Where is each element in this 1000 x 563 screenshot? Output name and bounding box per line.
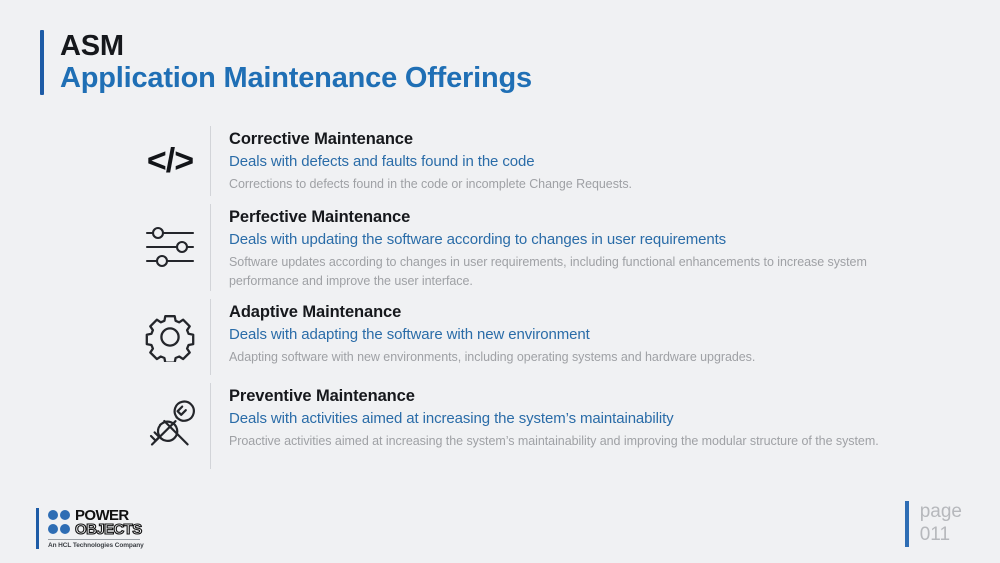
offering-title: Adaptive Maintenance (229, 301, 930, 323)
page-number-group: page 011 (905, 501, 962, 547)
row-divider (210, 204, 211, 291)
row-divider (210, 299, 211, 375)
offering-title: Corrective Maintenance (229, 128, 930, 150)
list-item: Perfective Maintenance Deals with updati… (130, 204, 930, 291)
row-divider (210, 383, 211, 469)
logo-divider (48, 539, 140, 540)
page-subtitle: Application Maintenance Offerings (60, 62, 532, 94)
row-divider (210, 126, 211, 196)
header-text-group: ASM Application Maintenance Offerings (60, 30, 532, 95)
page-number-text: page 011 (920, 501, 962, 547)
offering-subtitle: Deals with activities aimed at increasin… (229, 408, 930, 430)
tools-icon (130, 383, 210, 469)
offering-subtitle: Deals with updating the software accordi… (229, 229, 930, 251)
logo-line-bottom: OBJECTS (48, 522, 144, 536)
offering-body: Adaptive Maintenance Deals with adapting… (229, 299, 930, 367)
list-item: </> Corrective Maintenance Deals with de… (130, 126, 930, 196)
logo-dot-icon (60, 524, 70, 534)
offering-body: Corrective Maintenance Deals with defect… (229, 126, 930, 194)
tools-icon-svg (144, 400, 196, 452)
logo-tagline: An HCL Technologies Company (48, 542, 144, 549)
list-item: Preventive Maintenance Deals with activi… (130, 383, 930, 469)
logo-word-objects: OBJECTS (75, 521, 142, 538)
logo-dot-icon (48, 524, 58, 534)
logo-dot-icon (48, 510, 58, 520)
header-accent-bar (40, 30, 44, 95)
offering-title: Preventive Maintenance (229, 385, 930, 407)
offering-description: Software updates according to changes in… (229, 253, 930, 291)
page-number: 011 (920, 524, 962, 547)
logo-text-group: POWER OBJECTS An HCL Technologies Compan… (48, 508, 144, 549)
offering-description: Adapting software with new environments,… (229, 348, 930, 367)
sliders-icon (130, 204, 210, 290)
offering-title: Perfective Maintenance (229, 206, 930, 228)
page-label: page (920, 501, 962, 524)
offering-body: Preventive Maintenance Deals with activi… (229, 383, 930, 451)
code-icon-glyph: </> (147, 142, 193, 181)
offering-subtitle: Deals with adapting the software with ne… (229, 324, 930, 346)
page-accent-bar (905, 501, 909, 547)
logo-dot-icon (60, 510, 70, 520)
offerings-list: </> Corrective Maintenance Deals with de… (130, 126, 930, 477)
code-icon: </> (130, 126, 210, 196)
powerobjects-logo: POWER OBJECTS An HCL Technologies Compan… (36, 508, 144, 549)
gear-icon (130, 299, 210, 375)
logo-accent-bar (36, 508, 39, 549)
offering-subtitle: Deals with defects and faults found in t… (229, 151, 930, 173)
sliders-icon-svg (143, 224, 197, 270)
offering-description: Corrections to defects found in the code… (229, 175, 930, 194)
page-title: ASM (60, 30, 532, 62)
gear-icon-svg (145, 312, 195, 362)
offering-description: Proactive activities aimed at increasing… (229, 432, 930, 451)
offering-body: Perfective Maintenance Deals with updati… (229, 204, 930, 291)
list-item: Adaptive Maintenance Deals with adapting… (130, 299, 930, 375)
slide-header: ASM Application Maintenance Offerings (40, 30, 532, 95)
